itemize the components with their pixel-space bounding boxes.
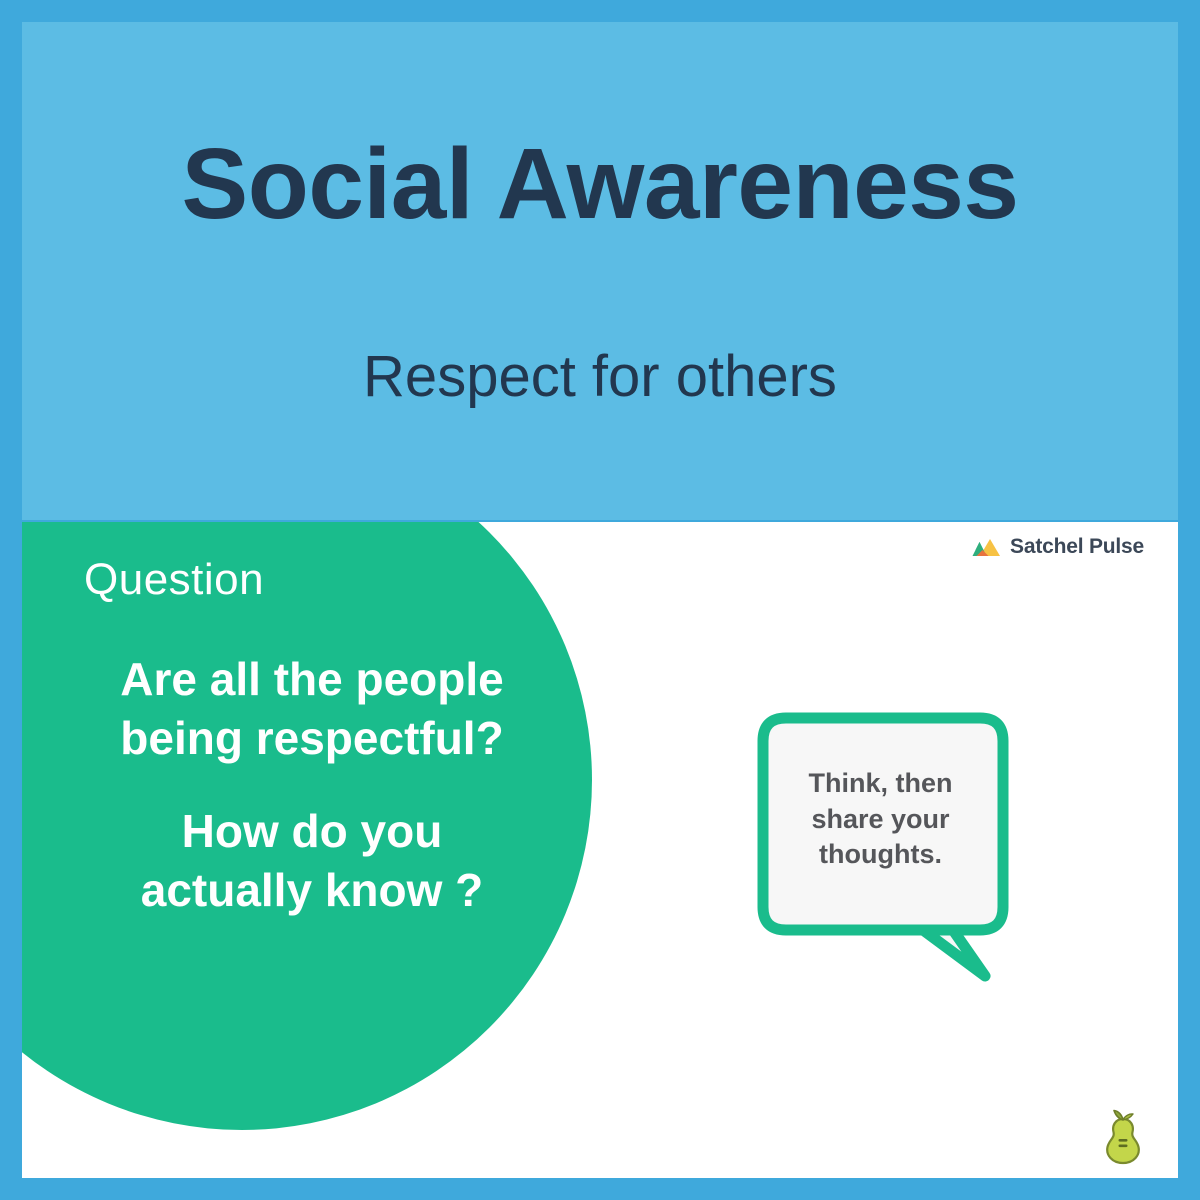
bubble-line-1: Think, then bbox=[778, 766, 983, 802]
content-card: Question Are all the people being respec… bbox=[22, 522, 1178, 1178]
pear-mascot-icon bbox=[1102, 1106, 1144, 1166]
header-panel: Social Awareness Respect for others bbox=[22, 22, 1178, 520]
bubble-line-3: thoughts. bbox=[778, 837, 983, 873]
speech-bubble: Think, then share your thoughts. bbox=[748, 708, 1018, 998]
question-line-1: Are all the people bbox=[52, 650, 572, 709]
question-line-3: How do you bbox=[52, 802, 572, 861]
page-subtitle: Respect for others bbox=[22, 345, 1178, 409]
satchel-pulse-logo: Satchel Pulse bbox=[972, 536, 1144, 557]
question-line-2: being respectful? bbox=[52, 709, 572, 768]
bubble-line-2: share your bbox=[778, 802, 983, 838]
logo-wordmark: Satchel Pulse bbox=[1010, 536, 1144, 557]
question-text: Are all the people being respectful? How… bbox=[52, 650, 572, 920]
slide: Social Awareness Respect for others Ques… bbox=[0, 0, 1200, 1200]
question-line-4: actually know ? bbox=[52, 861, 572, 920]
speech-bubble-text: Think, then share your thoughts. bbox=[778, 766, 983, 873]
page-title: Social Awareness bbox=[22, 132, 1178, 237]
question-label: Question bbox=[84, 558, 264, 602]
two-triangles-icon bbox=[972, 537, 1002, 557]
